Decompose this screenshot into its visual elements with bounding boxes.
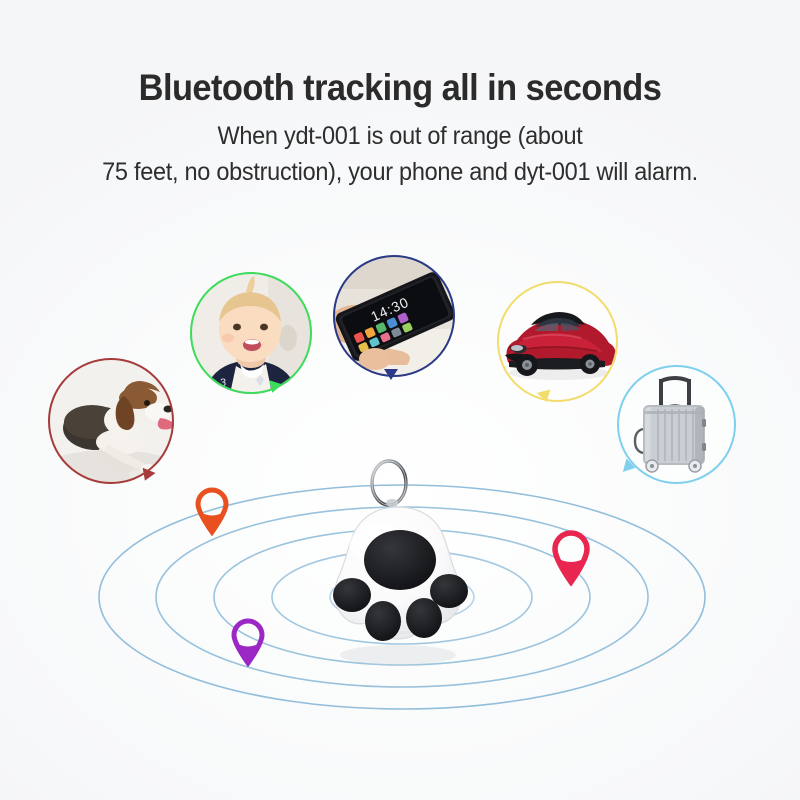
subtitle-line-2: 75 feet, no obstruction), your phone and… [24, 155, 776, 189]
baby-photo: 3 [190, 272, 312, 394]
header-text-block: Bluetooth tracking all in seconds When y… [0, 66, 800, 189]
product-banner: Bluetooth tracking all in seconds When y… [0, 0, 800, 800]
car-photo [497, 281, 618, 402]
phone-bubble-tail [384, 369, 398, 380]
paw-center-pad [364, 530, 436, 590]
paw-tracker-device[interactable] [312, 455, 492, 680]
location-pin-orange[interactable] [196, 489, 228, 533]
bubble-car[interactable] [497, 281, 618, 402]
paw-toe-pad-left [333, 578, 371, 612]
page-title: Bluetooth tracking all in seconds [28, 66, 772, 110]
svg-text:3: 3 [220, 377, 226, 389]
keyring-icon [372, 461, 406, 507]
bubble-baby[interactable]: 3 [190, 272, 312, 394]
bubble-phone[interactable]: 14:30 [333, 255, 455, 377]
subtitle-line-1: When ydt-001 is out of range (about [24, 119, 776, 153]
location-pin-rose[interactable] [552, 531, 590, 583]
dog-photo [48, 358, 174, 484]
paw-toe-pad-inner-right [406, 598, 442, 638]
bubble-dog[interactable] [48, 358, 174, 484]
bubble-suitcase[interactable] [617, 365, 736, 484]
location-pin-purple[interactable] [232, 620, 264, 664]
smartphone-photo: 14:30 [333, 255, 455, 377]
paw-toe-pad-inner-left [365, 601, 401, 641]
